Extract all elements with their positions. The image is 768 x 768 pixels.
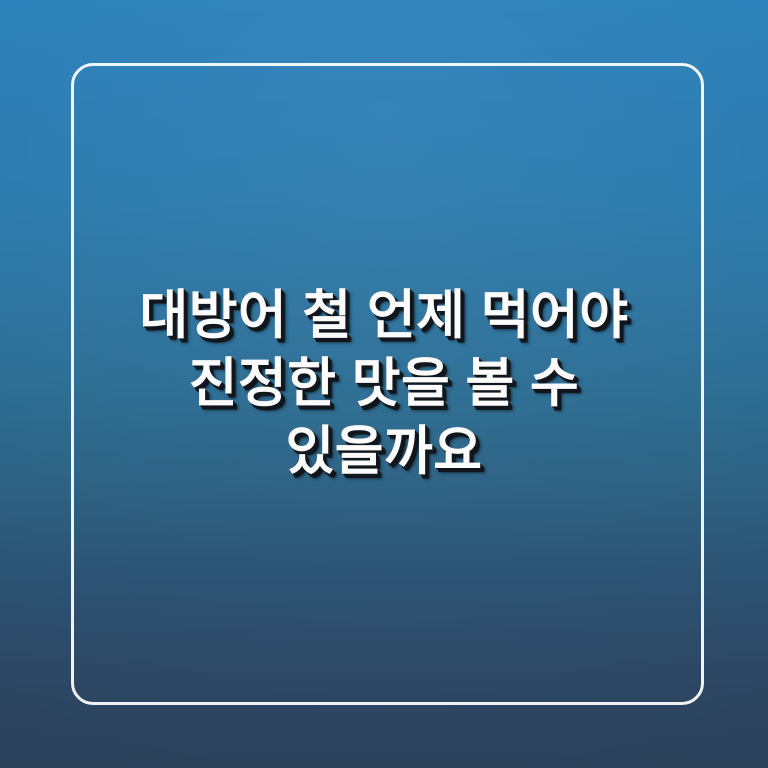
title-card: 대방어 철 언제 먹어야 진정한 맛을 볼 수 있을까요 <box>0 0 768 768</box>
headline-block: 대방어 철 언제 먹어야 진정한 맛을 볼 수 있을까요 <box>0 282 768 486</box>
headline-line-3: 있을까요 <box>70 418 698 486</box>
headline-line-2: 진정한 맛을 볼 수 <box>70 350 698 418</box>
headline-line-1: 대방어 철 언제 먹어야 <box>70 282 698 350</box>
